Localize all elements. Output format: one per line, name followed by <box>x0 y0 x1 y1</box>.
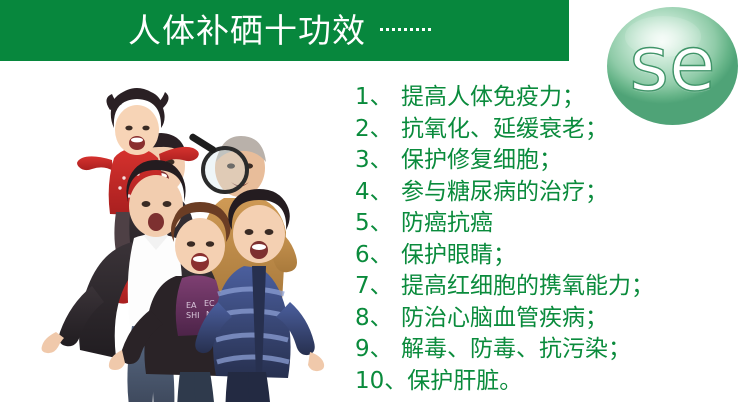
title-dot <box>392 28 395 31</box>
benefit-number: 5、 <box>355 208 401 240</box>
benefit-text: 提高人体免疫力； <box>401 82 585 114</box>
benefit-text: 防癌抗癌 <box>401 208 493 240</box>
benefit-item-6: 6、保护眼睛； <box>355 240 740 272</box>
benefits-list: 1、提高人体免疫力；2、抗氧化、延缓衰老；3、保护修复细胞；4、参与糖尿病的治疗… <box>355 82 740 397</box>
benefit-text: 保护肝脏。 <box>407 366 522 398</box>
benefit-number: 7、 <box>355 271 401 303</box>
benefit-item-9: 9、解毒、防毒、抗污染； <box>355 334 740 366</box>
benefit-text: 保护眼睛； <box>401 240 516 272</box>
title-dot <box>380 28 383 31</box>
title-dot <box>398 28 401 31</box>
svg-text:EC: EC <box>204 299 215 308</box>
benefit-item-5: 5、防癌抗癌 <box>355 208 740 240</box>
benefit-number: 1、 <box>355 82 401 114</box>
benefit-text: 抗氧化、延缓衰老； <box>401 114 608 146</box>
title-dot <box>428 28 431 31</box>
benefit-item-7: 7、提高红细胞的携氧能力； <box>355 271 740 303</box>
header-banner: 人体补硒十功效 <box>0 0 569 61</box>
title-dots-decoration <box>380 28 431 31</box>
selenium-sphere-logo: se <box>607 7 738 125</box>
benefit-item-3: 3、保护修复细胞； <box>355 145 740 177</box>
title-dot <box>386 28 389 31</box>
benefit-number: 10、 <box>355 366 407 398</box>
svg-text:EA: EA <box>186 301 197 310</box>
benefit-item-8: 8、防治心脑血管疾病； <box>355 303 740 335</box>
family-photo: EAEC SHINER <box>28 62 348 402</box>
page-title: 人体补硒十功效 <box>128 14 366 47</box>
title-dot <box>422 28 425 31</box>
benefit-text: 防治心脑血管疾病； <box>401 303 608 335</box>
title-dot <box>410 28 413 31</box>
benefit-text: 解毒、防毒、抗污染； <box>401 334 631 366</box>
title-dot <box>416 28 419 31</box>
selenium-logo-label: se <box>607 7 738 125</box>
benefit-number: 4、 <box>355 177 401 209</box>
svg-text:SHI: SHI <box>186 311 199 320</box>
benefit-number: 8、 <box>355 303 401 335</box>
benefit-number: 9、 <box>355 334 401 366</box>
benefit-number: 6、 <box>355 240 401 272</box>
poster-root: 人体补硒十功效 se <box>0 0 745 406</box>
benefit-text: 保护修复细胞； <box>401 145 562 177</box>
benefit-number: 2、 <box>355 114 401 146</box>
title-dot <box>404 28 407 31</box>
benefit-text: 提高红细胞的携氧能力； <box>401 271 654 303</box>
benefit-text: 参与糖尿病的治疗； <box>401 177 608 209</box>
benefit-item-10: 10、保护肝脏。 <box>355 366 740 398</box>
benefit-number: 3、 <box>355 145 401 177</box>
benefit-item-4: 4、参与糖尿病的治疗； <box>355 177 740 209</box>
